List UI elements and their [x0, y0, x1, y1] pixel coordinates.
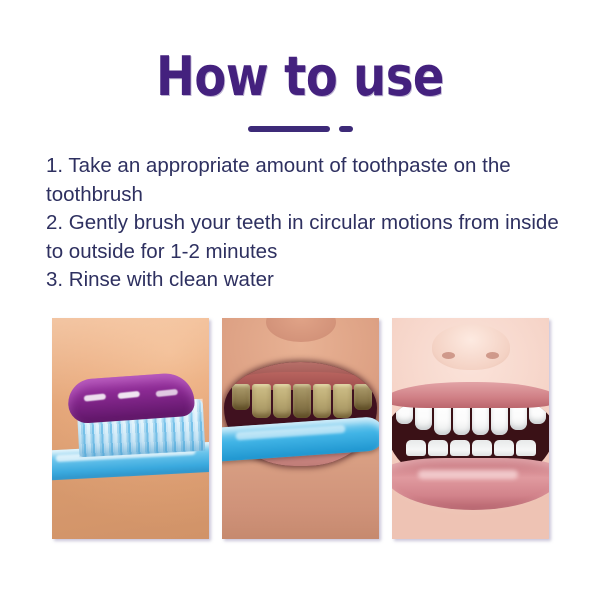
- photo-row: [52, 318, 549, 539]
- instruction-step-2: 2. Gently brush your teeth in circular m…: [46, 209, 574, 266]
- tooth: [453, 404, 470, 435]
- instruction-step-1: 1. Take an appropriate amount of toothpa…: [46, 152, 574, 209]
- tooth: [516, 440, 536, 456]
- photo-white-smile-result: [392, 318, 549, 539]
- tooth: [252, 384, 270, 418]
- tooth: [434, 404, 451, 435]
- tooth: [450, 440, 470, 456]
- lower-teeth-row: [406, 440, 536, 460]
- tooth: [273, 384, 291, 418]
- nose-shape: [432, 324, 510, 370]
- instruction-step-3: 3. Rinse with clean water: [46, 266, 574, 295]
- divider-dash-icon: [339, 126, 353, 132]
- how-to-use-infographic: How to use 1. Take an appropriate amount…: [0, 0, 600, 600]
- tooth: [406, 440, 426, 456]
- instructions-list: 1. Take an appropriate amount of toothpa…: [46, 152, 574, 295]
- tooth: [491, 404, 508, 435]
- photo-toothbrush-with-purple-toothpaste: [52, 318, 209, 539]
- purple-toothpaste-shape: [67, 372, 196, 425]
- nostril-shape: [486, 352, 499, 359]
- tooth: [293, 384, 311, 418]
- tooth: [313, 384, 331, 418]
- title-divider: [0, 126, 600, 132]
- title-block: How to use: [0, 48, 600, 106]
- page-title: How to use: [42, 48, 558, 106]
- divider-bar-icon: [248, 126, 330, 132]
- white-teeth-row: [396, 404, 546, 438]
- tooth: [472, 404, 489, 435]
- tooth: [472, 440, 492, 456]
- tooth: [333, 384, 351, 418]
- tooth: [494, 440, 514, 456]
- tooth: [428, 440, 448, 456]
- tooth: [232, 384, 250, 410]
- upper-lip-shape: [392, 382, 549, 408]
- tooth: [354, 384, 372, 410]
- nostril-shape: [442, 352, 455, 359]
- photo-stained-teeth-being-brushed: [222, 318, 379, 539]
